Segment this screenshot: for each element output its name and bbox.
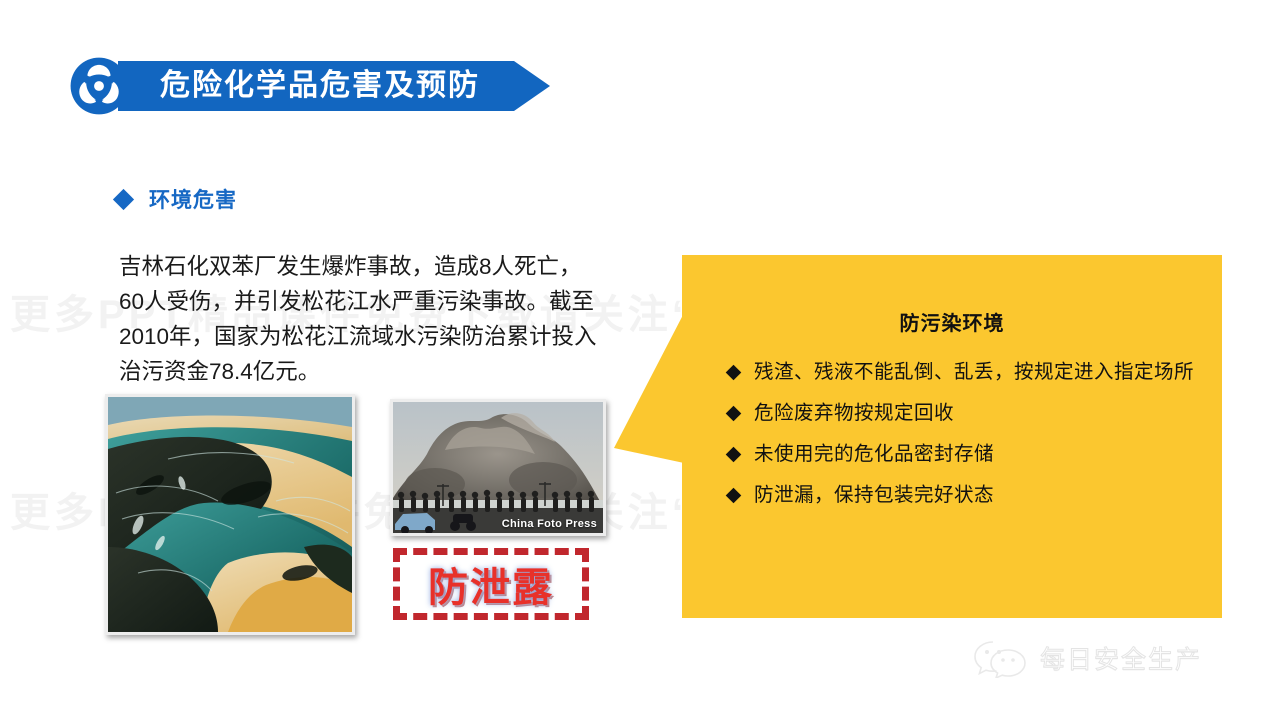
- prevention-callout-box: 防污染环境 残渣、残液不能乱倒、乱丢，按规定进入指定场所 危险废弃物按规定回收 …: [682, 255, 1222, 618]
- callout-title: 防污染环境: [682, 255, 1222, 336]
- diamond-bullet-icon: [726, 406, 742, 422]
- list-item-label: 未使用完的危化品密封存储: [754, 443, 994, 465]
- header-banner-bar: 危险化学品危害及预防: [118, 61, 514, 111]
- header-banner: 危险化学品危害及预防: [70, 57, 514, 115]
- diamond-bullet-icon: [726, 447, 742, 463]
- wechat-watermark-label: 每日安全生产: [1040, 640, 1202, 676]
- list-item-label: 残渣、残液不能乱倒、乱丢，按规定进入指定场所: [754, 361, 1194, 383]
- list-item-label: 危险废弃物按规定回收: [754, 402, 954, 424]
- biohazard-icon: [70, 57, 128, 115]
- list-item: 残渣、残液不能乱倒、乱丢，按规定进入指定场所: [728, 356, 1196, 388]
- status-badge-stamp: 防泄露: [393, 548, 589, 620]
- wechat-watermark: 每日安全生产: [972, 638, 1202, 678]
- list-item: 未使用完的危化品密封存储: [728, 438, 1196, 470]
- page-title: 危险化学品危害及预防: [160, 71, 480, 101]
- polluted-river-aerial-photo: [105, 394, 355, 635]
- photo-credit: China Foto Press: [502, 518, 597, 530]
- callout-pointer-tail: [614, 313, 684, 463]
- explosion-smoke-photo: China Foto Press: [390, 399, 606, 536]
- diamond-bullet-icon: [726, 365, 742, 381]
- wechat-icon: [972, 638, 1028, 678]
- callout-list: 残渣、残液不能乱倒、乱丢，按规定进入指定场所 危险废弃物按规定回收 未使用完的危…: [682, 356, 1222, 511]
- list-item-label: 防泄漏，保持包装完好状态: [754, 484, 994, 506]
- list-item: 危险废弃物按规定回收: [728, 397, 1196, 429]
- body-paragraph: 吉林石化双苯厂发生爆炸事故，造成8人死亡，60人受伤，并引发松花江水严重污染事故…: [119, 249, 599, 389]
- diamond-bullet-icon: [726, 488, 742, 504]
- diamond-bullet-icon: [113, 188, 134, 209]
- section-heading: 环境危害: [116, 184, 237, 214]
- section-heading-label: 环境危害: [149, 184, 237, 214]
- list-item: 防泄漏，保持包装完好状态: [728, 479, 1196, 511]
- stamp-label: 防泄露: [393, 548, 589, 620]
